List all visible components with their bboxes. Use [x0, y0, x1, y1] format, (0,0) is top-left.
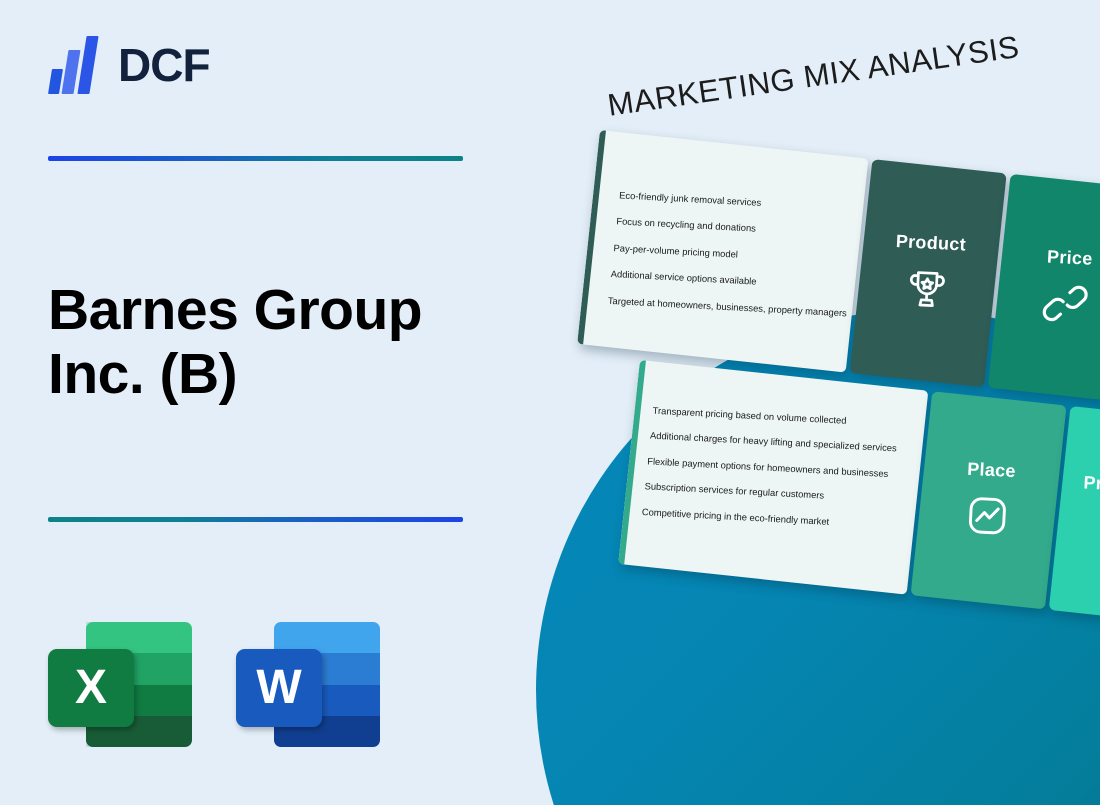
trophy-icon [900, 262, 952, 314]
word-badge-letter: W [236, 649, 322, 727]
link-chain-icon [1038, 277, 1090, 329]
product-detail-card: Eco-friendly junk removal services Focus… [577, 130, 868, 372]
brand-name: DCF [118, 42, 210, 88]
list-item: Additional service options available [611, 269, 835, 290]
page-title-line-1: Barnes Group [48, 278, 508, 342]
divider-top [48, 156, 463, 161]
excel-badge-letter: X [48, 649, 134, 727]
list-item: Targeted at homeowners, businesses, prop… [608, 295, 832, 316]
price-detail-card: Transparent pricing based on volume coll… [618, 360, 928, 595]
tile-place[interactable]: Place [911, 391, 1067, 609]
download-icons: X W [48, 622, 380, 747]
list-item: Focus on recycling and donations [616, 217, 840, 238]
list-item: Transparent pricing based on volume coll… [652, 406, 910, 429]
list-item: Subscription services for regular custom… [644, 481, 902, 504]
tile-price[interactable]: Price [988, 174, 1100, 402]
tile-price-label: Price [1046, 246, 1093, 269]
page-title: Barnes Group Inc. (B) [48, 278, 508, 407]
list-item: Additional charges for heavy lifting and… [650, 431, 908, 454]
list-item: Competitive pricing in the eco-friendly … [642, 507, 900, 530]
tile-product[interactable]: Product [850, 159, 1007, 387]
marketing-mix-heading: MARKETING MIX ANALYSIS [605, 29, 1021, 124]
word-file-icon[interactable]: W [236, 622, 380, 747]
tile-promotion-label: Promotion [1083, 472, 1100, 498]
tile-place-label: Place [967, 459, 1017, 482]
tile-product-label: Product [896, 231, 967, 256]
marketing-mix-graphic: MARKETING MIX ANALYSIS Eco-friendly junk… [500, 0, 1100, 805]
price-bullet-list: Transparent pricing based on volume coll… [620, 360, 928, 579]
divider-bottom [48, 517, 463, 522]
page-title-line-2: Inc. (B) [48, 342, 508, 406]
product-bullet-list: Eco-friendly junk removal services Focus… [578, 130, 869, 368]
list-item: Eco-friendly junk removal services [619, 190, 843, 211]
chart-square-icon [961, 490, 1013, 542]
dcf-logo[interactable]: DCF [48, 36, 210, 94]
left-panel: DCF Barnes Group Inc. (B) X W [0, 0, 540, 805]
bar-chart-logo-icon [48, 36, 104, 94]
list-item: Flexible payment options for homeowners … [647, 456, 905, 479]
excel-file-icon[interactable]: X [48, 622, 192, 747]
list-item: Pay-per-volume pricing model [613, 243, 837, 264]
slide-canvas: MARKETING MIX ANALYSIS Eco-friendly junk… [0, 0, 1100, 805]
